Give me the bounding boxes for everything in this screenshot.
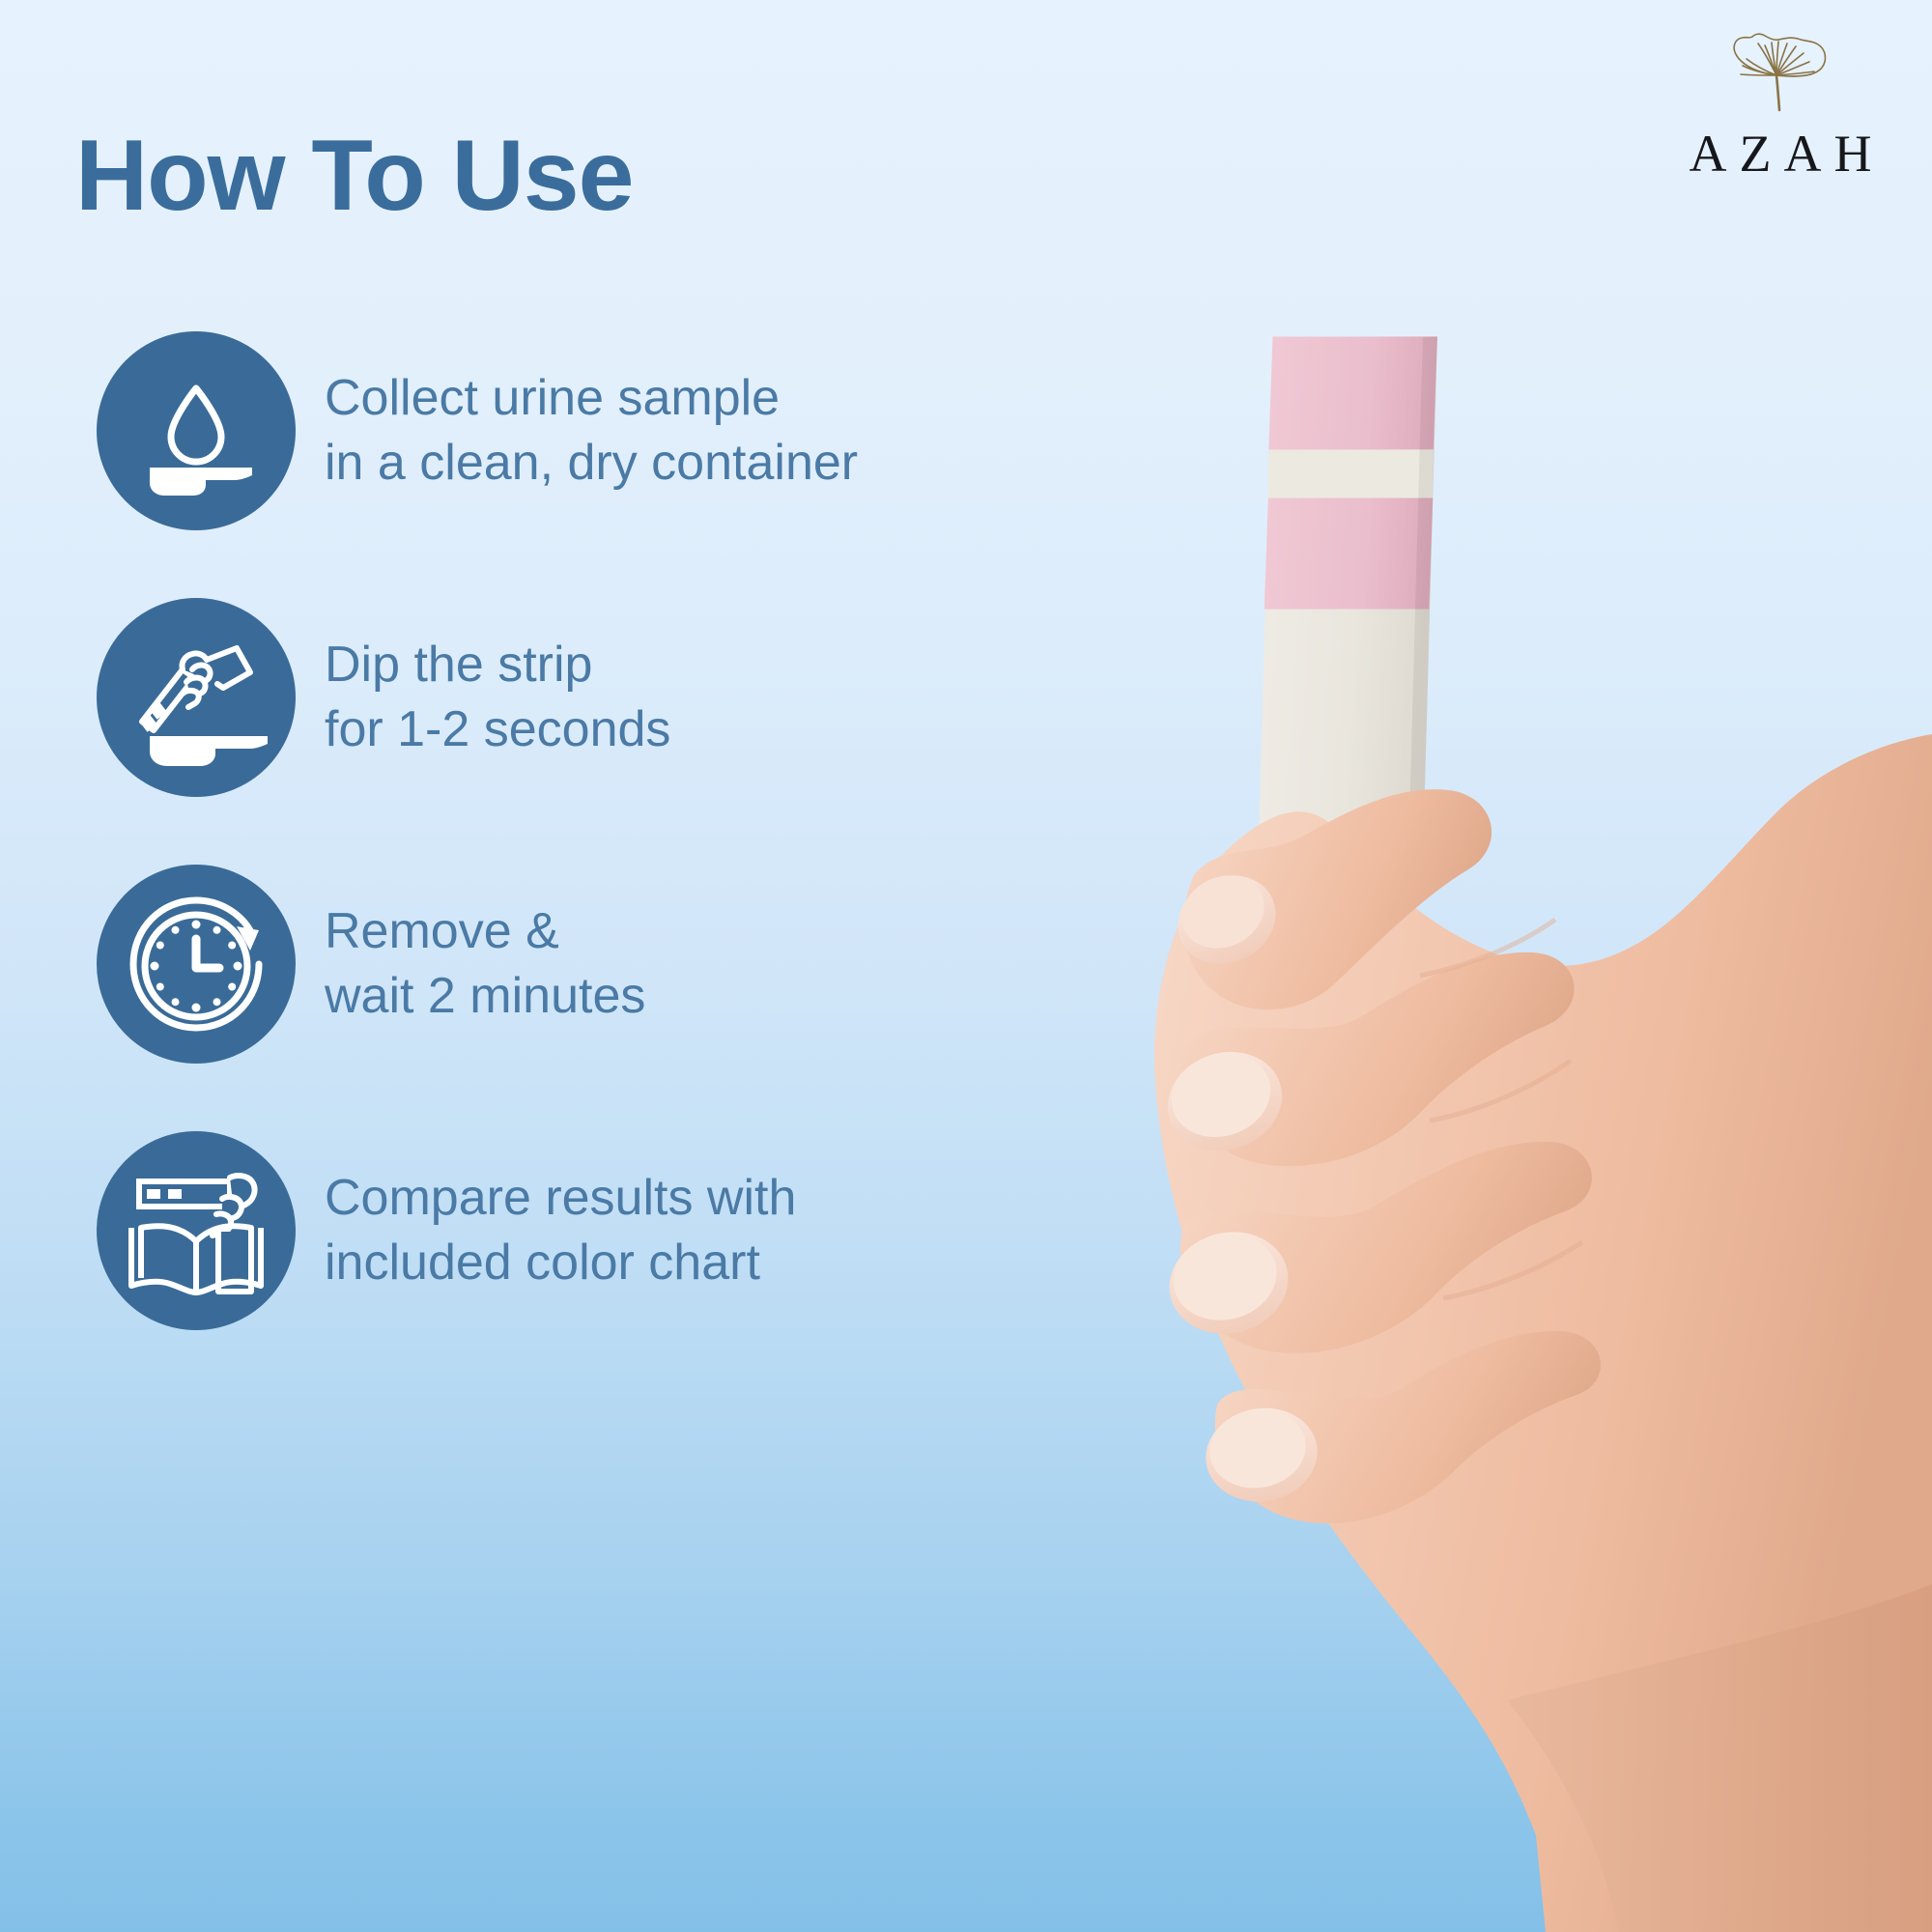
strip-band-2 [1261,487,1436,621]
step-4-label: Compare results with included color char… [325,1166,796,1294]
hand [1154,734,1932,1932]
page-title: How To Use [75,124,633,229]
ginkgo-leaf-icon [1723,14,1837,129]
step-3-label: Remove & wait 2 minutes [325,899,645,1028]
droplet-in-container-icon [128,363,264,498]
clock-timer-icon [124,892,269,1037]
step-1-icon-circle [97,331,296,530]
hand-dipping-strip-icon [123,624,270,771]
strip-band-1 [1264,326,1441,462]
step-item-2: Dip the strip for 1-2 seconds [97,585,966,810]
test-strip [1237,326,1459,853]
step-item-4: Compare results with included color char… [97,1119,966,1343]
step-item-1: Collect urine sample in a clean, dry con… [97,319,966,543]
strip-and-color-chart-book-icon [122,1156,270,1305]
step-1-label: Collect urine sample in a clean, dry con… [325,366,858,495]
step-2-icon-circle [97,598,296,797]
step-2-label: Dip the strip for 1-2 seconds [325,633,670,761]
step-3-icon-circle [97,865,296,1064]
steps-list: Collect urine sample in a clean, dry con… [97,319,966,1385]
step-item-3: Remove & wait 2 minutes [97,852,966,1076]
brand-logo: AZAH [1669,14,1891,184]
brand-wordmark: AZAH [1669,124,1891,184]
hand-holding-test-strip-photo [966,0,1932,1932]
step-4-icon-circle [97,1131,296,1330]
